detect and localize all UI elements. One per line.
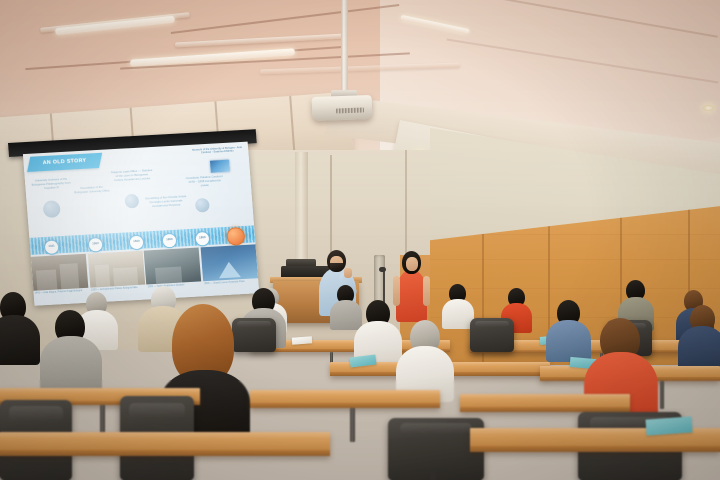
slide-photo [144,247,202,284]
slide-note: Something of the Circular Artists Consig… [145,195,188,209]
slide-surface: AN OLD STORY University Archives of the … [23,142,259,306]
attendee-body [40,336,102,392]
slide-photo [200,244,258,281]
handout [645,416,692,435]
slide-note: Gregorio Lapis Miles — Statutes of the L… [110,169,153,183]
attendee-body [330,300,362,330]
slide-logo-caption: Museum of the University of Bologna - Au… [191,146,243,155]
slide-note: Constitutio Palatina Carducci 1478 – 189… [185,175,224,188]
microphone-icon [379,267,386,272]
photo-caption: 1803 — Grand Louvre Pyramide Paris [203,278,259,294]
desk [250,390,440,408]
slide-title-banner: AN OLD STORY [27,153,102,172]
desk-leg [660,381,664,409]
slide-photo [87,251,145,288]
presenter-female-arm [393,276,400,306]
projector-vent [336,108,364,114]
recessed-downlight [703,105,714,111]
attendee-body [0,315,40,365]
slide-seal-icon [195,198,210,213]
pyramid-icon [218,261,241,278]
desk-leg [350,408,355,442]
chair [232,318,276,352]
slide-photo [31,254,89,291]
projector-mount-pole [341,0,348,95]
chair-stem [430,470,436,480]
presenter-female-arm [423,276,430,306]
presenter-female-face [406,257,418,271]
slide-note: Foundation of the Bolognese University O… [74,185,111,195]
presenter-male-beard [330,263,343,271]
slide-logo-image [210,160,230,173]
slide-seal-icon [43,200,61,218]
presenter-male-hand [344,268,352,278]
projection-screen: AN OLD STORY University Archives of the … [8,129,269,317]
desk [460,394,630,412]
projector-lens-icon [316,104,328,114]
attendee-body [546,320,591,362]
lecture-hall-photo: AN OLD STORY University Archives of the … [0,0,720,480]
slide-seal-icon [124,194,139,209]
slide-note: University Archives of the Bolognese Pal… [31,178,72,192]
photo-caption: 1441 — Aula Magna, Palazzo Poggi Bologna [33,288,89,304]
desk [0,432,330,456]
handout [292,336,312,344]
slide-title-text: AN OLD STORY [28,153,101,172]
chair [470,318,514,352]
